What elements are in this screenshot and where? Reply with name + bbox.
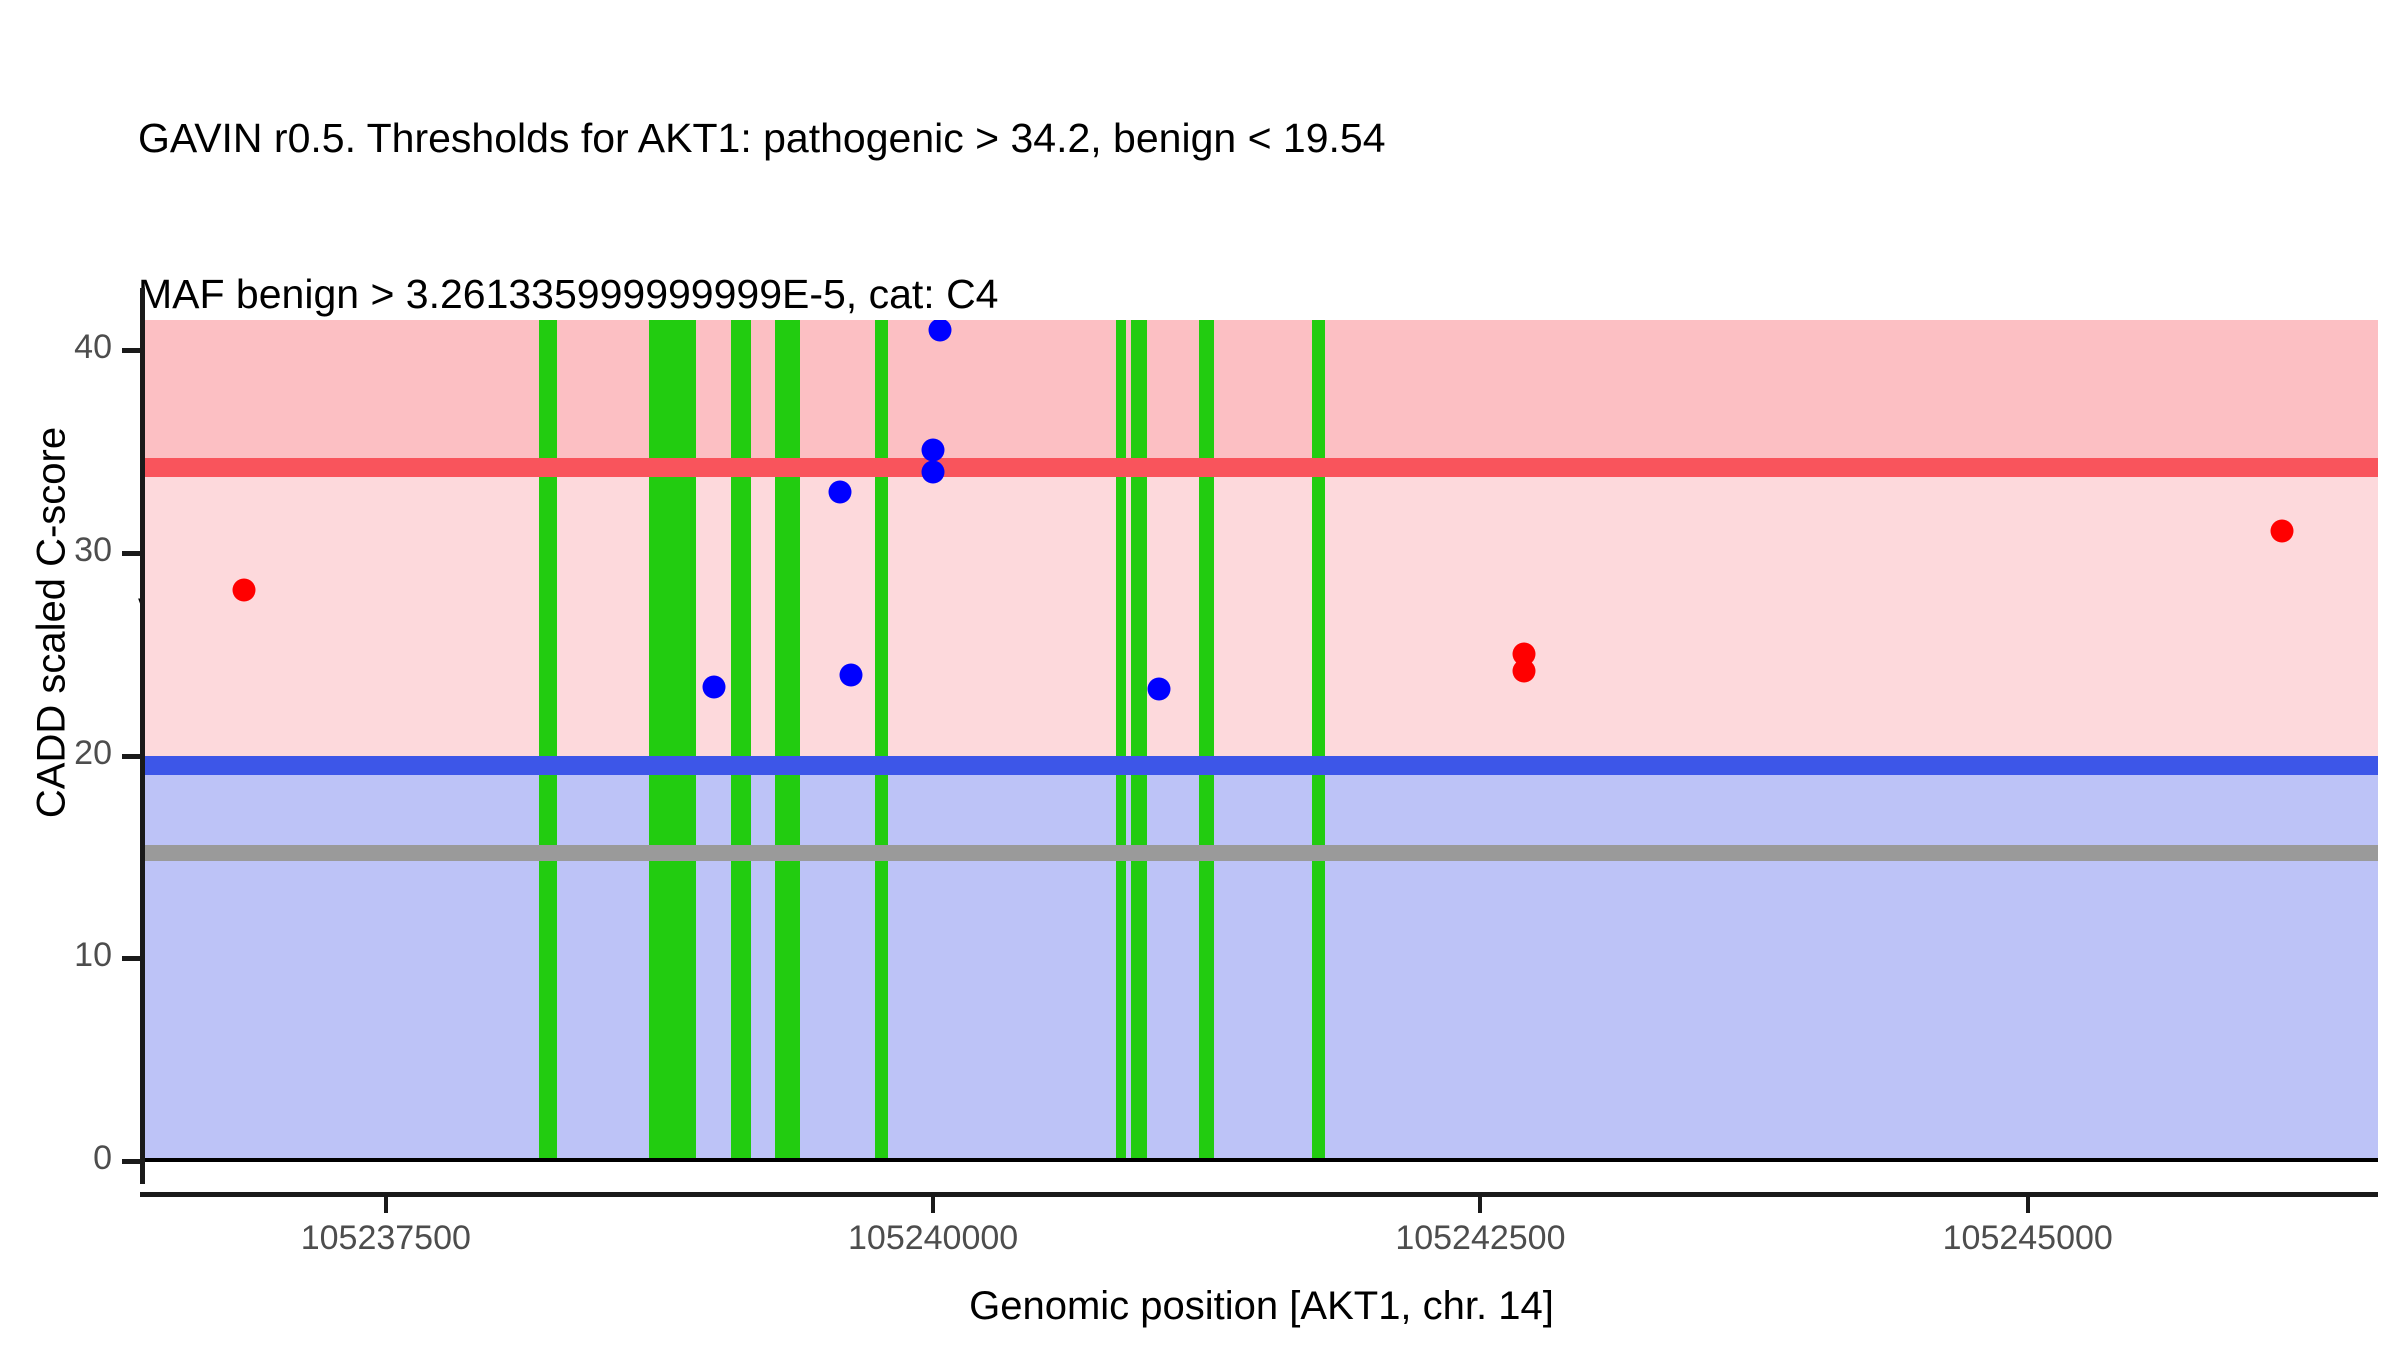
- clinvar-point: [1513, 659, 1536, 682]
- gnomad-point: [922, 438, 945, 461]
- y-tick-mark: [122, 956, 140, 961]
- gnomad-point: [922, 460, 945, 483]
- x-tick-mark: [931, 1197, 935, 1213]
- fallback-threshold-line: [145, 845, 2378, 861]
- x-tick-mark: [2026, 1197, 2030, 1213]
- y-axis-title: CADD scaled C-score: [30, 303, 75, 943]
- x-axis-line: [140, 1192, 2378, 1197]
- exon-bar: [649, 320, 696, 1161]
- exon-bar: [1312, 320, 1325, 1161]
- exon-bar: [1116, 320, 1126, 1161]
- x-tick-label: 105245000: [1943, 1219, 2113, 1258]
- x-tick-label: 105237500: [301, 1219, 471, 1258]
- y-tick-mark: [122, 348, 140, 353]
- benign-threshold-line: [145, 756, 2378, 775]
- y-tick-mark: [122, 754, 140, 759]
- band-benign: [145, 765, 2378, 1161]
- exon-bar: [1199, 320, 1214, 1161]
- band-intermediate: [145, 468, 2378, 765]
- exon-bar: [775, 320, 799, 1161]
- gnomad-point: [840, 663, 863, 686]
- pathogenic-threshold-line: [145, 458, 2378, 477]
- x-tick-label: 105240000: [848, 1219, 1018, 1258]
- x-axis-title: Genomic position [AKT1, chr. 14]: [145, 1284, 2378, 1329]
- chart-root: GAVIN r0.5. Thresholds for AKT1: pathoge…: [0, 0, 2400, 1350]
- exon-bar: [539, 320, 557, 1161]
- gnomad-point: [829, 481, 852, 504]
- y-tick-mark: [122, 1159, 140, 1164]
- y-tick-mark: [122, 551, 140, 556]
- exon-bar: [731, 320, 752, 1161]
- band-pathogenic: [145, 320, 2378, 468]
- x-tick-mark: [384, 1197, 388, 1213]
- title-line-1: GAVIN r0.5. Thresholds for AKT1: pathoge…: [138, 112, 2338, 164]
- exon-bar: [875, 320, 888, 1161]
- panel-bottom-border: [145, 1158, 2378, 1162]
- clinvar-point: [2270, 519, 2293, 542]
- gnomad-point: [703, 675, 726, 698]
- x-tick-mark: [1478, 1197, 1482, 1213]
- y-tick-label: 0: [0, 1139, 112, 1178]
- clinvar-point: [232, 578, 255, 601]
- title-line-2: MAF benign > 3.261335999999999E-5, cat: …: [138, 268, 2338, 320]
- gnomad-point: [1147, 677, 1170, 700]
- y-axis-line: [140, 288, 145, 1184]
- exon-bar: [1131, 320, 1146, 1161]
- x-tick-label: 105242500: [1395, 1219, 1565, 1258]
- plot-area: [145, 320, 2378, 1161]
